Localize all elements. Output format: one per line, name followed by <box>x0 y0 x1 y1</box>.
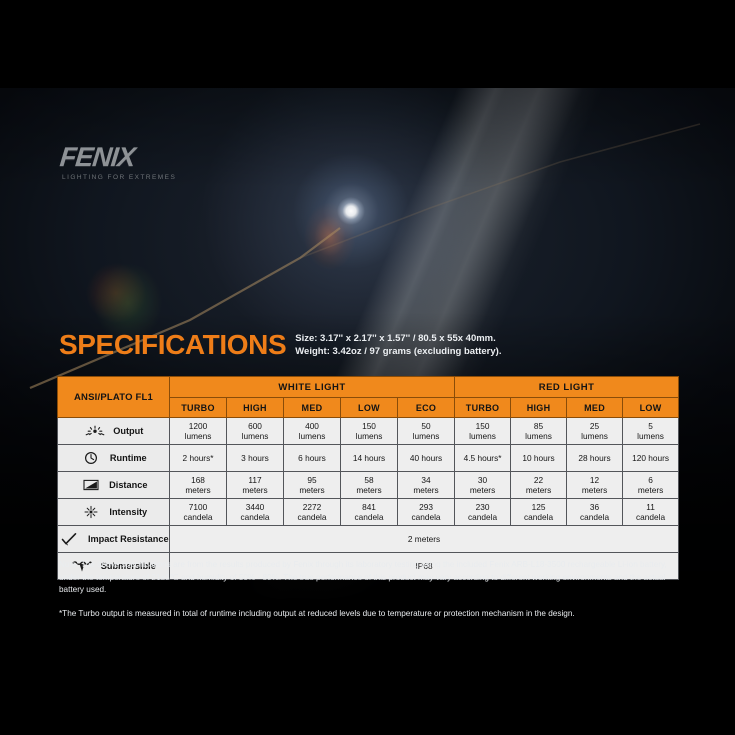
header-mode-red-high: HIGH <box>511 398 567 418</box>
header-mode-red-med: MED <box>567 398 623 418</box>
row-label-output: Output <box>58 418 170 445</box>
cell-distance-white-eco: 34meters <box>398 472 455 499</box>
table-row: Impact Resistance 2 meters <box>58 526 679 553</box>
cell-intensity-red-turbo: 230candela <box>455 499 511 526</box>
header-mode-white-eco: ECO <box>398 398 455 418</box>
table-row: Intensity 7100candela 3440candela 2272ca… <box>58 499 679 526</box>
cell-distance-white-turbo: 168meters <box>170 472 227 499</box>
table-row: Runtime 2 hours* 3 hours 6 hours 14 hour… <box>58 445 679 472</box>
note-main: Note: The above specifications are from … <box>59 559 681 597</box>
row-label-runtime: Runtime <box>58 445 170 472</box>
cell-output-white-turbo: 1200lumens <box>170 418 227 445</box>
intensity-crosshair-icon <box>80 505 102 519</box>
row-label-distance: Distance <box>58 472 170 499</box>
row-label-intensity: Intensity <box>58 499 170 526</box>
brand-name: FENIX <box>59 144 178 171</box>
header-mode-white-turbo: TURBO <box>170 398 227 418</box>
row-label-impact-resistance: Impact Resistance <box>58 526 170 553</box>
cell-runtime-red-low: 120 hours <box>623 445 679 472</box>
cell-output-red-turbo: 150lumens <box>455 418 511 445</box>
cell-distance-white-low: 58meters <box>341 472 398 499</box>
table-row: Distance 168meters 117meters 95meters 58… <box>58 472 679 499</box>
cell-output-white-med: 400lumens <box>284 418 341 445</box>
specifications-table: ANSI/PLATO FL1 WHITE LIGHT RED LIGHT TUR… <box>57 376 679 580</box>
header-mode-white-high: HIGH <box>227 398 284 418</box>
cell-runtime-white-turbo: 2 hours* <box>170 445 227 472</box>
page-title: SPECIFICATIONS <box>59 331 286 359</box>
cell-runtime-white-low: 14 hours <box>341 445 398 472</box>
checkmark-impact-icon <box>58 532 80 546</box>
header-group-white-light: WHITE LIGHT <box>170 377 455 398</box>
table-row: Output 1200lumens 600lumens 400lumens 15… <box>58 418 679 445</box>
row-label-text: Intensity <box>109 507 147 517</box>
cell-intensity-white-high: 3440candela <box>227 499 284 526</box>
row-label-text: Distance <box>109 480 147 490</box>
cell-distance-white-high: 117meters <box>227 472 284 499</box>
row-label-text: Output <box>113 426 143 436</box>
beam-distance-icon <box>80 478 102 492</box>
cell-output-red-med: 25lumens <box>567 418 623 445</box>
fenix-logo: FENIX LIGHTING FOR EXTREMES <box>60 144 176 181</box>
product-spec-sheet: FENIX LIGHTING FOR EXTREMES SPECIFICATIO… <box>0 0 735 735</box>
cell-runtime-red-turbo: 4.5 hours* <box>455 445 511 472</box>
cell-runtime-white-high: 3 hours <box>227 445 284 472</box>
cell-intensity-white-med: 2272candela <box>284 499 341 526</box>
row-label-text: Impact Resistance <box>88 534 169 544</box>
footnotes-block: Note: The above specifications are from … <box>59 559 681 620</box>
row-label-text: Runtime <box>110 453 147 463</box>
cell-output-red-high: 85lumens <box>511 418 567 445</box>
header-mode-white-low: LOW <box>341 398 398 418</box>
cell-intensity-white-low: 841candela <box>341 499 398 526</box>
cell-distance-white-med: 95meters <box>284 472 341 499</box>
cell-intensity-red-high: 125candela <box>511 499 567 526</box>
dimensions-block: Size: 3.17'' x 2.17'' x 1.57'' / 80.5 x … <box>295 333 501 358</box>
cell-output-white-high: 600lumens <box>227 418 284 445</box>
cell-intensity-white-eco: 293candela <box>398 499 455 526</box>
cell-runtime-red-high: 10 hours <box>511 445 567 472</box>
cell-impact-resistance-value: 2 meters <box>170 526 679 553</box>
specifications-heading-block: SPECIFICATIONS Size: 3.17'' x 2.17'' x 1… <box>59 331 501 359</box>
note-asterisk: *The Turbo output is measured in total o… <box>59 608 681 621</box>
cell-intensity-white-turbo: 7100candela <box>170 499 227 526</box>
table-header-group-row: ANSI/PLATO FL1 WHITE LIGHT RED LIGHT <box>58 377 679 398</box>
clock-icon <box>80 451 102 465</box>
brand-tagline: LIGHTING FOR EXTREMES <box>62 174 176 181</box>
cell-intensity-red-med: 36candela <box>567 499 623 526</box>
cell-runtime-white-eco: 40 hours <box>398 445 455 472</box>
cell-distance-red-med: 12meters <box>567 472 623 499</box>
header-group-red-light: RED LIGHT <box>455 377 679 398</box>
cell-distance-red-high: 22meters <box>511 472 567 499</box>
weight-line: Weight: 3.42oz / 97 grams (excluding bat… <box>295 346 501 359</box>
header-mode-white-med: MED <box>284 398 341 418</box>
cell-distance-red-low: 6meters <box>623 472 679 499</box>
cell-runtime-white-med: 6 hours <box>284 445 341 472</box>
header-ansi-plato: ANSI/PLATO FL1 <box>58 377 170 418</box>
header-mode-red-low: LOW <box>623 398 679 418</box>
sun-burst-icon <box>84 424 106 438</box>
cell-distance-red-turbo: 30meters <box>455 472 511 499</box>
cell-output-red-low: 5lumens <box>623 418 679 445</box>
cell-runtime-red-med: 28 hours <box>567 445 623 472</box>
size-line: Size: 3.17'' x 2.17'' x 1.57'' / 80.5 x … <box>295 333 501 346</box>
cell-output-white-low: 150lumens <box>341 418 398 445</box>
cell-output-white-eco: 50lumens <box>398 418 455 445</box>
cell-intensity-red-low: 11candela <box>623 499 679 526</box>
header-mode-red-turbo: TURBO <box>455 398 511 418</box>
